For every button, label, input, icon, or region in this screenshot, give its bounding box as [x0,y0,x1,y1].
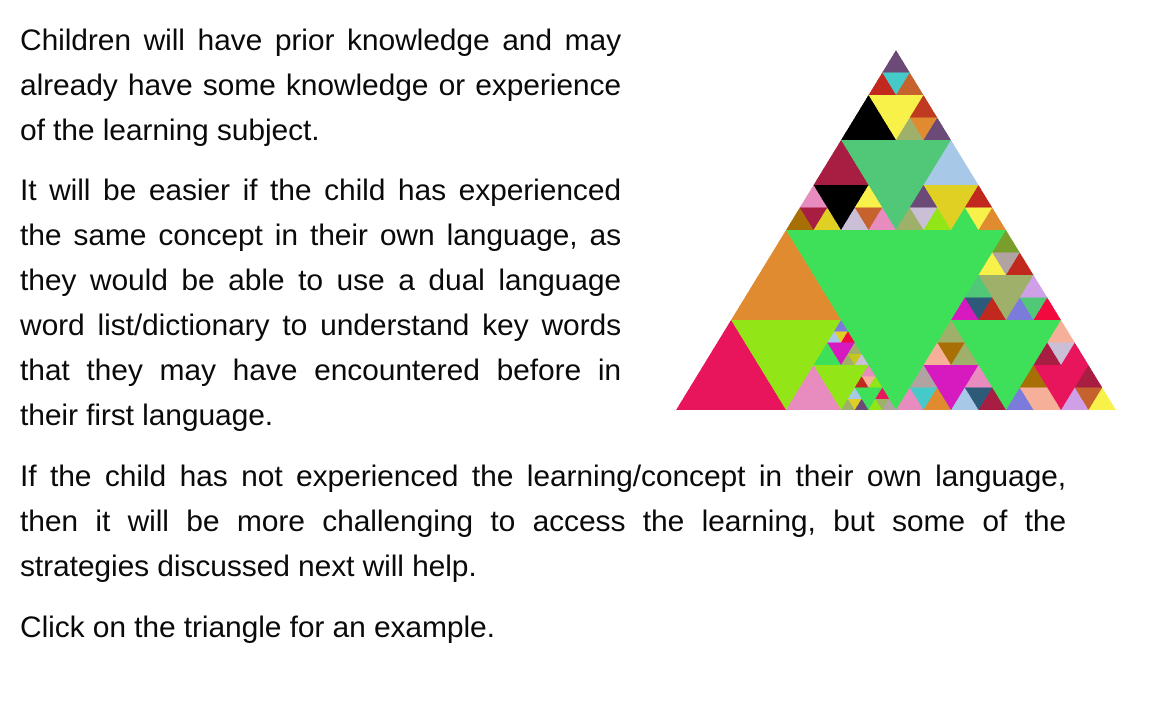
sierpinski-triangle-figure[interactable] [672,50,1120,418]
paragraph-same-concept-own-language: It will be easier if the child has exper… [20,168,621,438]
sierpinski-triangle-icon[interactable] [672,50,1120,418]
paragraph-prior-knowledge: Children will have prior knowledge and m… [20,18,621,153]
paragraph-click-instruction: Click on the triangle for an example. [20,605,1066,650]
slide-canvas: Children will have prior knowledge and m… [0,0,1152,709]
paragraph-not-experienced: If the child has not experienced the lea… [20,454,1066,589]
fractal-cell [882,50,910,73]
